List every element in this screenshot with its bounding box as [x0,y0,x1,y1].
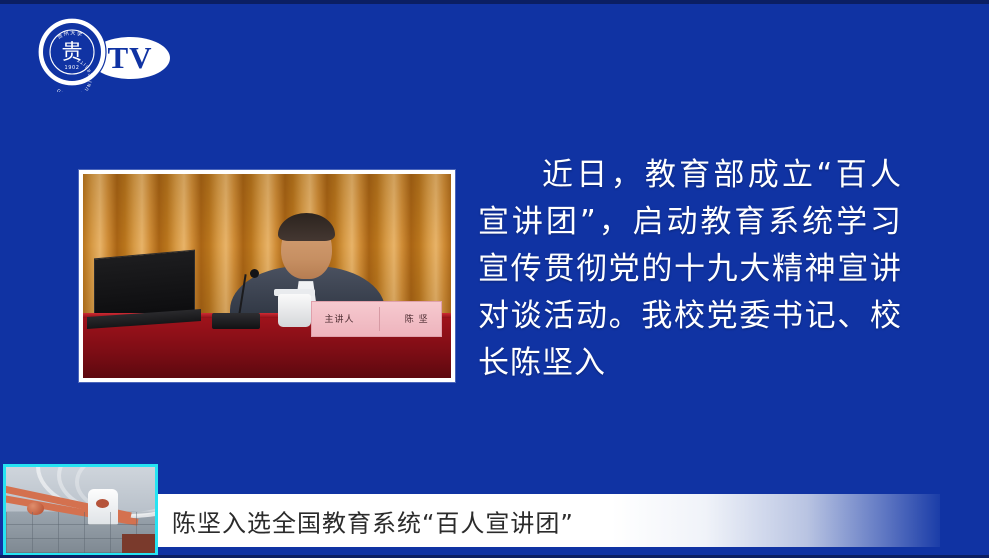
nameplate-name: 陈 坚 [405,312,429,325]
channel-logo-icon: TV GUIZHOU UNIVERSITY 贵州大学 贵 1902 [26,14,176,92]
photo-nameplate: 主讲人 陈 坚 [311,301,442,338]
lower-third-bar: 陈坚入选全国教育系统“百人宣讲团” [0,462,989,558]
news-photo-image: 主讲人 陈 坚 [83,174,451,378]
photo-microphone-base [212,313,260,329]
top-edge-band [0,0,989,4]
narration-paragraph: 近日，教育部成立“百人宣讲团”，启动教育系统学习宣传贯彻党的十九大精神宣讲对谈活… [478,152,902,387]
svg-text:1902: 1902 [64,65,79,71]
channel-logo: TV GUIZHOU UNIVERSITY 贵州大学 贵 1902 [26,14,176,92]
headline-bar: 陈坚入选全国教育系统“百人宣讲团” [158,494,940,547]
thumbnail-corner-block [122,534,155,553]
news-photo: 主讲人 陈 坚 [79,170,455,382]
video-frame: TV GUIZHOU UNIVERSITY 贵州大学 贵 1902 [0,0,989,558]
svg-text:贵: 贵 [62,40,83,64]
photo-teacup [278,294,311,327]
nameplate-divider [379,307,380,331]
preview-thumbnail[interactable] [3,464,158,556]
photo-speaker-hair [278,213,335,241]
svg-text:TV: TV [107,40,152,75]
preview-thumbnail-image [6,467,155,553]
headline-text: 陈坚入选全国教育系统“百人宣讲团” [172,503,574,538]
nameplate-role: 主讲人 [324,312,354,325]
